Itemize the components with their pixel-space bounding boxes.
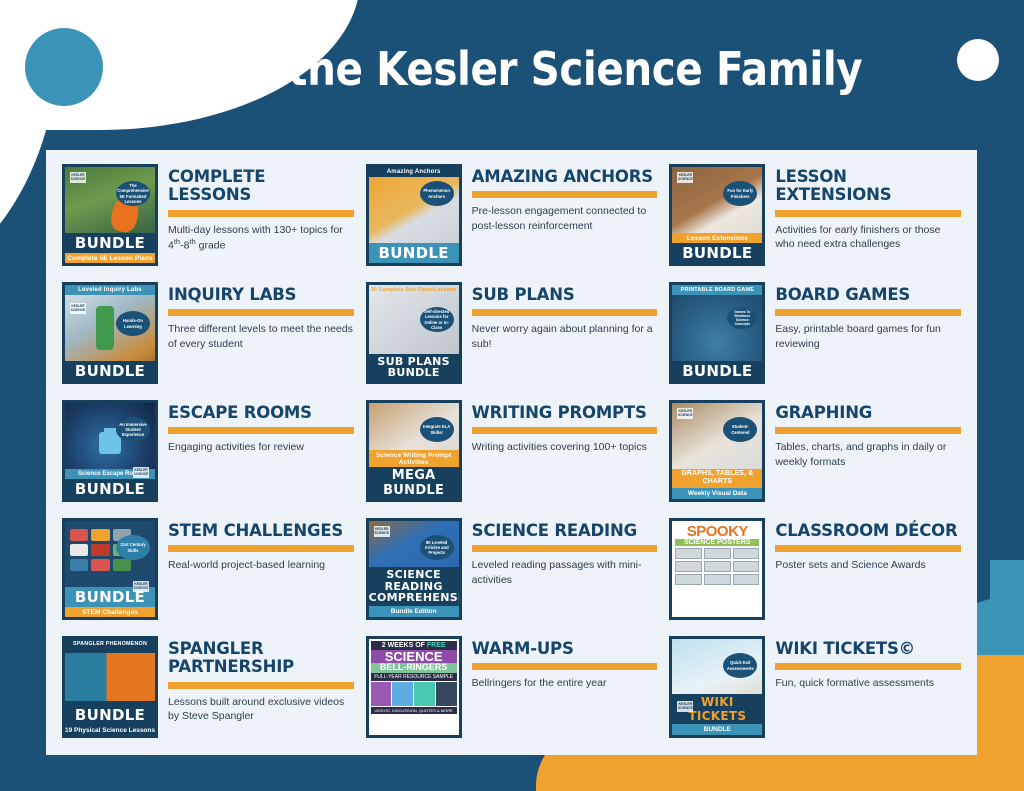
product-text: STEM CHALLENGES Real-world project-based… bbox=[168, 518, 354, 573]
product-item-sub-plans[interactable]: 30 Complete Sub Plans/Lessons Self-direc… bbox=[366, 282, 658, 397]
orange-divider bbox=[775, 309, 961, 316]
product-thumbnail: 2 WEEKS OF FREE SCIENCE BELL-RINGERS FUL… bbox=[366, 636, 462, 738]
thumbnail-sublabel: Weekly Visual Data bbox=[672, 488, 762, 499]
orange-divider bbox=[775, 210, 961, 217]
product-text: WARM-UPS Bellringers for the entire year bbox=[472, 636, 658, 691]
product-item-wiki-tickets[interactable]: Quick Exit Assessments KESLER SCIENCE WI… bbox=[669, 636, 961, 751]
product-thumbnail: SPOOKY SCIENCE POSTERS bbox=[669, 518, 765, 620]
brand-logo-icon: KESLER SCIENCE bbox=[70, 303, 86, 314]
product-description: Leveled reading passages with mini-activ… bbox=[472, 558, 658, 586]
product-thumbnail: SPANGLER PHENOMENON BUNDLE 19 Physical S… bbox=[62, 636, 158, 738]
product-item-inquiry-labs[interactable]: Leveled Inquiry Labs KESLER SCIENCE Hand… bbox=[62, 282, 354, 397]
product-heading: CLASSROOM DÉCOR bbox=[775, 522, 961, 540]
bundle-label: BUNDLE bbox=[65, 233, 155, 253]
brand-logo-icon: KESLER SCIENCE bbox=[374, 526, 390, 537]
product-item-warm-ups[interactable]: 2 WEEKS OF FREE SCIENCE BELL-RINGERS FUL… bbox=[366, 636, 658, 751]
spooky-title: SPOOKY bbox=[675, 524, 759, 539]
thumbnail-toptag: Leveled Inquiry Labs bbox=[65, 285, 155, 295]
product-thumbnail: Amazing Anchors Phenomenon Anchors BUNDL… bbox=[366, 164, 462, 266]
thumbnail-sublabel: Lesson Extensions bbox=[672, 233, 762, 243]
bundle-label: BUNDLE bbox=[65, 705, 155, 725]
product-item-science-reading[interactable]: KESLER SCIENCE 80 Leveled Articles and P… bbox=[366, 518, 658, 633]
thumbnail-toptag: Amazing Anchors bbox=[369, 167, 459, 177]
bundle-label: SCIENCE READING COMPREHENSION bbox=[369, 567, 459, 606]
product-description: Multi-day lessons with 130+ topics for 4… bbox=[168, 223, 354, 253]
product-text: BOARD GAMES Easy, printable board games … bbox=[775, 282, 961, 351]
thumbnail-badge: Self-directed Lessons for Online or In-C… bbox=[420, 307, 454, 332]
product-heading: SUB PLANS bbox=[472, 286, 658, 304]
bell-line-4: FULL-YEAR RESOURCE SAMPLE bbox=[371, 673, 457, 681]
product-grid: KESLER SCIENCE The Comprehensive 5E Form… bbox=[62, 164, 961, 745]
product-text: AMAZING ANCHORS Pre-lesson engagement co… bbox=[472, 164, 658, 233]
brand-logo-icon: KESLER SCIENCE bbox=[677, 701, 693, 712]
brand-logo-icon: KESLER SCIENCE bbox=[677, 408, 693, 419]
product-heading: STEM CHALLENGES bbox=[168, 522, 354, 540]
product-thumbnail: KESLER SCIENCE The Comprehensive 5E Form… bbox=[62, 164, 158, 266]
thumbnail-badge: 80 Leveled Articles and Projects bbox=[420, 535, 454, 560]
product-thumbnail: KESLER SCIENCE 80 Leveled Articles and P… bbox=[366, 518, 462, 620]
thumbnail-badge: Hands-On Learning bbox=[116, 311, 150, 336]
product-description: Writing activities covering 100+ topics bbox=[472, 440, 658, 454]
product-description: Easy, printable board games for fun revi… bbox=[775, 322, 961, 350]
thumbnail-toptag: 30 Complete Sub Plans/Lessons bbox=[369, 285, 459, 295]
product-item-classroom-decor[interactable]: SPOOKY SCIENCE POSTERS CLASSROOM DÉCOR P… bbox=[669, 518, 961, 633]
product-heading: ESCAPE ROOMS bbox=[168, 404, 354, 422]
product-description: Pre-lesson engagement connected to post-… bbox=[472, 204, 658, 232]
product-heading: COMPLETE LESSONS bbox=[168, 168, 354, 205]
partnership-artwork-icon bbox=[65, 653, 155, 701]
poster-canvas: Meet the Kesler Science Family KESLER SC… bbox=[0, 0, 1024, 791]
product-item-complete-lessons[interactable]: KESLER SCIENCE The Comprehensive 5E Form… bbox=[62, 164, 354, 279]
bundle-label: BUNDLE bbox=[65, 479, 155, 499]
bundle-label: MEGA BUNDLE bbox=[369, 467, 459, 499]
product-thumbnail: An Immersive Student Experience KESLER S… bbox=[62, 400, 158, 502]
bell-line-3: BELL-RINGERS bbox=[371, 663, 457, 673]
brand-logo-icon: KESLER SCIENCE bbox=[133, 467, 149, 478]
orange-divider bbox=[168, 545, 354, 552]
product-thumbnail: KESLER SCIENCE Fun for Early Finishers L… bbox=[669, 164, 765, 266]
product-description: Fun, quick formative assessments bbox=[775, 676, 961, 690]
product-item-graphing[interactable]: KESLER SCIENCE Student-Centered GRAPHS, … bbox=[669, 400, 961, 515]
product-description: Real-world project-based learning bbox=[168, 558, 354, 572]
product-text: WIKI TICKETS© Fun, quick formative asses… bbox=[775, 636, 961, 691]
brand-logo-icon: KESLER SCIENCE bbox=[70, 172, 86, 183]
product-heading: GRAPHING bbox=[775, 404, 961, 422]
thumbnail-sublabel: Science Writing Prompt Activities bbox=[369, 450, 459, 467]
bundle-label: BUNDLE bbox=[65, 361, 155, 381]
thumbnail-sublabel: BUNDLE bbox=[672, 724, 762, 735]
thumbnail-sublabel: Complete 5E Lesson Plans bbox=[65, 253, 155, 263]
thumbnail-toptag: SPANGLER PHENOMENON bbox=[65, 639, 155, 649]
bundle-label: SUB PLANS BUNDLE bbox=[369, 354, 459, 381]
orange-divider bbox=[168, 427, 354, 434]
orange-divider bbox=[472, 545, 658, 552]
product-item-writing-prompts[interactable]: Integrate ELA Skills! Science Writing Pr… bbox=[366, 400, 658, 515]
white-circle-decoration bbox=[957, 39, 999, 81]
thumbnail-toptag: PRINTABLE BOARD GAME bbox=[672, 285, 762, 295]
product-description: Lessons built around exclusive videos by… bbox=[168, 695, 354, 723]
thumbnail-sublabel: 19 Physical Science Lessons bbox=[65, 725, 155, 735]
product-text: LESSON EXTENSIONS Activities for early f… bbox=[775, 164, 961, 251]
product-thumbnail: KESLER SCIENCE Student-Centered GRAPHS, … bbox=[669, 400, 765, 502]
product-text: COMPLETE LESSONS Multi-day lessons with … bbox=[168, 164, 354, 253]
product-item-amazing-anchors[interactable]: Amazing Anchors Phenomenon Anchors BUNDL… bbox=[366, 164, 658, 279]
product-heading: BOARD GAMES bbox=[775, 286, 961, 304]
orange-divider bbox=[775, 427, 961, 434]
product-description: Bellringers for the entire year bbox=[472, 676, 658, 690]
product-heading: WRITING PROMPTS bbox=[472, 404, 658, 422]
product-thumbnail: 21st Century Skills KESLER SCIENCE BUNDL… bbox=[62, 518, 158, 620]
product-description: Engaging activities for review bbox=[168, 440, 354, 454]
product-item-lesson-extensions[interactable]: KESLER SCIENCE Fun for Early Finishers L… bbox=[669, 164, 961, 279]
page-title: Meet the Kesler Science Family bbox=[61, 42, 962, 96]
product-description: Activities for early finishers or those … bbox=[775, 223, 961, 251]
thumbnail-badge: Integrate ELA Skills! bbox=[420, 417, 454, 442]
bellringers-artwork-icon: 2 WEEKS OF FREE SCIENCE BELL-RINGERS FUL… bbox=[369, 639, 459, 735]
product-heading: SPANGLER PARTNERSHIP bbox=[168, 640, 354, 677]
spooky-posters-artwork-icon: SPOOKY SCIENCE POSTERS bbox=[672, 521, 762, 617]
product-heading: INQUIRY LABS bbox=[168, 286, 354, 304]
spooky-subtitle: SCIENCE POSTERS bbox=[675, 539, 759, 546]
product-description: Three different levels to meet the needs… bbox=[168, 322, 354, 350]
product-thumbnail: 30 Complete Sub Plans/Lessons Self-direc… bbox=[366, 282, 462, 384]
bundle-label: GRAPHS, TABLES, & CHARTS bbox=[672, 469, 762, 488]
product-heading: LESSON EXTENSIONS bbox=[775, 168, 961, 205]
orange-divider bbox=[472, 309, 658, 316]
product-text: ESCAPE ROOMS Engaging activities for rev… bbox=[168, 400, 354, 455]
product-text: SCIENCE READING Leveled reading passages… bbox=[472, 518, 658, 587]
thumbnail-badge: 21st Century Skills bbox=[116, 535, 150, 560]
orange-divider bbox=[168, 309, 354, 316]
product-text: SPANGLER PARTNERSHIP Lessons built aroun… bbox=[168, 636, 354, 723]
bell-sample-grid bbox=[371, 682, 457, 706]
brand-logo-icon: KESLER SCIENCE bbox=[677, 172, 693, 183]
product-heading: AMAZING ANCHORS bbox=[472, 168, 658, 186]
thumbnail-sublabel: Bundle Edition bbox=[369, 606, 459, 617]
thumbnail-badge: Phenomenon Anchors bbox=[420, 181, 454, 206]
orange-divider bbox=[775, 663, 961, 670]
product-item-spangler-partnership[interactable]: SPANGLER PHENOMENON BUNDLE 19 Physical S… bbox=[62, 636, 354, 751]
product-item-escape-rooms[interactable]: An Immersive Student Experience KESLER S… bbox=[62, 400, 354, 515]
product-item-board-games[interactable]: PRINTABLE BOARD GAME Games To Reinforce … bbox=[669, 282, 961, 397]
product-text: WRITING PROMPTS Writing activities cover… bbox=[472, 400, 658, 455]
thumbnail-sublabel: STEM Challenges bbox=[65, 607, 155, 617]
orange-divider bbox=[168, 682, 354, 689]
product-text: INQUIRY LABS Three different levels to m… bbox=[168, 282, 354, 351]
thumbnail-badge: An Immersive Student Experience bbox=[116, 417, 150, 442]
catalog-card: KESLER SCIENCE The Comprehensive 5E Form… bbox=[46, 150, 977, 755]
product-thumbnail: Integrate ELA Skills! Science Writing Pr… bbox=[366, 400, 462, 502]
product-text: GRAPHING Tables, charts, and graphs in d… bbox=[775, 400, 961, 469]
orange-divider bbox=[472, 427, 658, 434]
thumbnail-badge: The Comprehensive 5E Formatted Lessons bbox=[116, 181, 150, 206]
product-description: Tables, charts, and graphs in daily or w… bbox=[775, 440, 961, 468]
product-thumbnail: Leveled Inquiry Labs KESLER SCIENCE Hand… bbox=[62, 282, 158, 384]
product-description: Poster sets and Science Awards bbox=[775, 558, 961, 572]
product-text: SUB PLANS Never worry again about planni… bbox=[472, 282, 658, 351]
orange-divider bbox=[472, 191, 658, 198]
product-thumbnail: PRINTABLE BOARD GAME Games To Reinforce … bbox=[669, 282, 765, 384]
product-thumbnail: Quick Exit Assessments KESLER SCIENCE WI… bbox=[669, 636, 765, 738]
product-heading: SCIENCE READING bbox=[472, 522, 658, 540]
bundle-label: BUNDLE bbox=[369, 243, 459, 263]
product-heading: WARM-UPS bbox=[472, 640, 658, 658]
brand-logo-icon: KESLER SCIENCE bbox=[133, 581, 149, 592]
product-description: Never worry again about planning for a s… bbox=[472, 322, 658, 350]
orange-divider bbox=[168, 210, 354, 217]
thumbnail-badge: Games To Reinforce Science Concepts bbox=[727, 307, 757, 329]
orange-divider bbox=[775, 545, 961, 552]
poster-thumbnails-grid bbox=[675, 548, 759, 585]
bell-line-6: VIDEOS, DISCUSSION, QUOTES & MORE bbox=[371, 707, 457, 714]
product-item-stem-challenges[interactable]: 21st Century Skills KESLER SCIENCE BUNDL… bbox=[62, 518, 354, 633]
product-text: CLASSROOM DÉCOR Poster sets and Science … bbox=[775, 518, 961, 573]
bundle-label: BUNDLE bbox=[672, 243, 762, 263]
orange-divider bbox=[472, 663, 658, 670]
bundle-label: BUNDLE bbox=[672, 361, 762, 381]
product-heading: WIKI TICKETS© bbox=[775, 640, 961, 658]
